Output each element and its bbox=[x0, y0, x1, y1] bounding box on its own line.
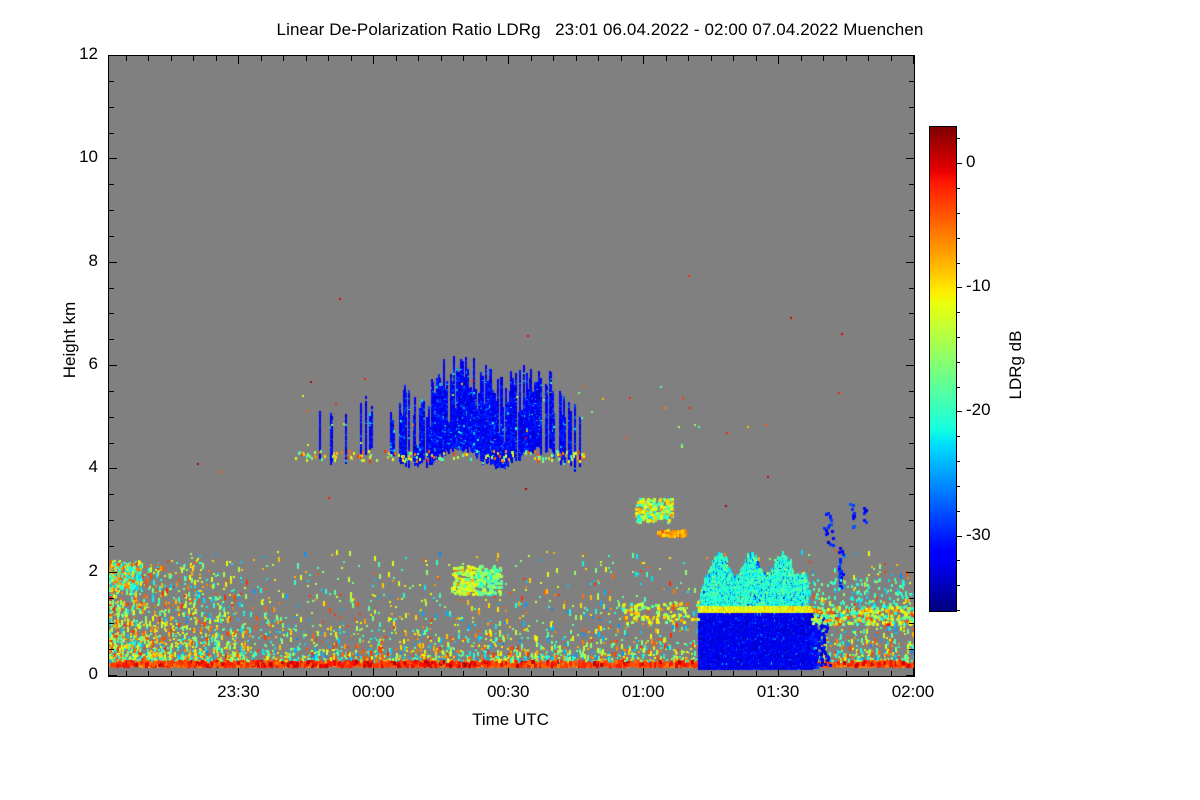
x-tick bbox=[193, 671, 194, 676]
x-tick-top bbox=[711, 56, 712, 61]
y-tick-label: 10 bbox=[40, 147, 98, 167]
x-tick-top bbox=[778, 56, 779, 64]
y-tick bbox=[109, 623, 114, 624]
page-title: Linear De-Polarization Ratio LDRg 23:01 … bbox=[0, 20, 1200, 40]
x-tick-top bbox=[351, 56, 352, 61]
x-tick bbox=[846, 671, 847, 676]
x-tick bbox=[418, 671, 419, 676]
colorbar-tick bbox=[956, 213, 960, 214]
x-tick bbox=[756, 671, 757, 676]
x-tick bbox=[373, 668, 374, 676]
x-tick bbox=[531, 671, 532, 676]
y-tick bbox=[109, 339, 114, 340]
y-tick bbox=[109, 262, 117, 263]
y-tick bbox=[109, 468, 117, 469]
x-tick-top bbox=[891, 56, 892, 61]
colorbar-gradient bbox=[930, 127, 956, 611]
x-tick-top bbox=[913, 56, 914, 64]
y-tick bbox=[109, 158, 117, 159]
x-tick bbox=[441, 671, 442, 676]
x-tick-top bbox=[756, 56, 757, 61]
y-tick-right bbox=[906, 158, 914, 159]
x-tick bbox=[598, 671, 599, 676]
colorbar-tick bbox=[956, 560, 960, 561]
x-tick-top bbox=[531, 56, 532, 61]
x-tick-top bbox=[598, 56, 599, 61]
y-tick-label: 8 bbox=[40, 251, 98, 271]
x-tick-top bbox=[441, 56, 442, 61]
x-tick bbox=[891, 671, 892, 676]
radar-heatmap-canvas bbox=[109, 56, 914, 676]
colorbar-tick bbox=[956, 585, 960, 586]
x-tick bbox=[463, 671, 464, 676]
x-tick bbox=[868, 671, 869, 676]
y-tick-right bbox=[909, 339, 914, 340]
x-tick bbox=[171, 671, 172, 676]
x-tick bbox=[733, 671, 734, 676]
x-tick bbox=[778, 668, 779, 676]
y-tick bbox=[109, 649, 114, 650]
y-tick-right bbox=[909, 598, 914, 599]
x-tick-top bbox=[868, 56, 869, 61]
x-tick-top bbox=[666, 56, 667, 61]
x-tick bbox=[396, 671, 397, 676]
y-tick-right bbox=[909, 236, 914, 237]
colorbar-tick bbox=[956, 263, 960, 264]
y-tick bbox=[109, 598, 114, 599]
x-tick bbox=[666, 671, 667, 676]
x-tick-top bbox=[801, 56, 802, 61]
x-tick-top bbox=[306, 56, 307, 61]
y-tick-label: 12 bbox=[40, 44, 98, 64]
y-tick-label: 6 bbox=[40, 354, 98, 374]
colorbar-tick-label: -10 bbox=[966, 276, 991, 296]
x-tick-label: 02:00 bbox=[853, 682, 973, 702]
y-tick-right bbox=[909, 520, 914, 521]
y-tick bbox=[109, 494, 114, 495]
y-tick-right bbox=[909, 184, 914, 185]
y-tick-right bbox=[906, 365, 914, 366]
colorbar-tick-label: -30 bbox=[966, 525, 991, 545]
y-tick bbox=[109, 288, 114, 289]
colorbar-tick bbox=[956, 362, 960, 363]
x-tick bbox=[148, 671, 149, 676]
x-tick bbox=[711, 671, 712, 676]
y-tick-right bbox=[906, 572, 914, 573]
y-tick bbox=[109, 365, 117, 366]
colorbar-tick bbox=[956, 138, 960, 139]
x-tick bbox=[351, 671, 352, 676]
x-tick bbox=[328, 671, 329, 676]
y-tick-right bbox=[909, 623, 914, 624]
x-tick bbox=[643, 668, 644, 676]
y-tick-right bbox=[909, 313, 914, 314]
x-tick-top bbox=[396, 56, 397, 61]
colorbar-tick bbox=[956, 511, 960, 512]
colorbar-tick bbox=[956, 287, 962, 288]
y-tick-right bbox=[909, 443, 914, 444]
x-tick bbox=[238, 668, 239, 676]
x-tick-top bbox=[553, 56, 554, 61]
y-tick-right bbox=[909, 546, 914, 547]
y-tick-right bbox=[909, 417, 914, 418]
x-tick bbox=[913, 668, 914, 676]
y-tick bbox=[109, 133, 114, 134]
x-tick bbox=[823, 671, 824, 676]
y-tick bbox=[109, 313, 114, 314]
colorbar bbox=[929, 126, 957, 612]
colorbar-tick-label: -20 bbox=[966, 400, 991, 420]
y-tick bbox=[109, 675, 117, 676]
x-tick bbox=[486, 671, 487, 676]
y-tick-label: 2 bbox=[40, 561, 98, 581]
y-tick-right bbox=[909, 133, 914, 134]
x-tick-top bbox=[148, 56, 149, 61]
x-tick-top bbox=[261, 56, 262, 61]
y-tick bbox=[109, 107, 114, 108]
y-tick bbox=[109, 572, 117, 573]
x-tick-top bbox=[126, 56, 127, 61]
x-tick-top bbox=[171, 56, 172, 61]
x-tick-top bbox=[418, 56, 419, 61]
x-tick-label: 00:30 bbox=[448, 682, 568, 702]
colorbar-label: LDRg dB bbox=[1006, 265, 1026, 465]
y-tick bbox=[109, 520, 114, 521]
x-tick bbox=[508, 668, 509, 676]
y-tick bbox=[109, 546, 114, 547]
x-tick-top bbox=[486, 56, 487, 61]
y-tick bbox=[109, 443, 114, 444]
x-tick-label: 00:00 bbox=[313, 682, 433, 702]
colorbar-tick bbox=[956, 461, 960, 462]
y-tick-right bbox=[909, 288, 914, 289]
x-tick bbox=[553, 671, 554, 676]
x-tick-top bbox=[621, 56, 622, 61]
y-tick-right bbox=[909, 81, 914, 82]
x-tick-top bbox=[283, 56, 284, 61]
colorbar-tick-label: 0 bbox=[966, 152, 975, 172]
x-tick-top bbox=[238, 56, 239, 64]
y-tick-right bbox=[909, 107, 914, 108]
x-tick bbox=[621, 671, 622, 676]
y-tick bbox=[109, 236, 114, 237]
y-tick-right bbox=[909, 210, 914, 211]
y-tick-right bbox=[906, 262, 914, 263]
y-tick bbox=[109, 210, 114, 211]
x-tick-top bbox=[216, 56, 217, 61]
x-tick-top bbox=[733, 56, 734, 61]
y-tick bbox=[109, 55, 117, 56]
colorbar-tick bbox=[956, 536, 962, 537]
y-tick bbox=[109, 184, 114, 185]
y-tick bbox=[109, 81, 114, 82]
x-tick-top bbox=[688, 56, 689, 61]
x-tick-top bbox=[823, 56, 824, 61]
y-tick-right bbox=[909, 649, 914, 650]
y-tick-right bbox=[909, 494, 914, 495]
x-tick-label: 01:30 bbox=[718, 682, 838, 702]
y-tick-right bbox=[909, 391, 914, 392]
x-tick bbox=[576, 671, 577, 676]
colorbar-tick bbox=[956, 188, 960, 189]
x-tick bbox=[261, 671, 262, 676]
colorbar-tick bbox=[956, 436, 960, 437]
colorbar-tick bbox=[956, 387, 960, 388]
radar-plot-page: Linear De-Polarization Ratio LDRg 23:01 … bbox=[0, 0, 1200, 800]
x-tick-top bbox=[463, 56, 464, 61]
y-tick-label: 0 bbox=[40, 664, 98, 684]
colorbar-tick bbox=[956, 163, 962, 164]
x-tick-top bbox=[643, 56, 644, 64]
x-tick-top bbox=[193, 56, 194, 61]
x-tick bbox=[688, 671, 689, 676]
colorbar-tick bbox=[956, 411, 962, 412]
x-tick-label: 01:00 bbox=[583, 682, 703, 702]
x-tick-top bbox=[846, 56, 847, 61]
colorbar-tick bbox=[956, 486, 960, 487]
colorbar-tick bbox=[956, 238, 960, 239]
x-tick-top bbox=[373, 56, 374, 64]
x-axis-label: Time UTC bbox=[108, 710, 913, 730]
x-tick bbox=[216, 671, 217, 676]
x-tick bbox=[801, 671, 802, 676]
x-tick bbox=[306, 671, 307, 676]
y-tick bbox=[109, 417, 114, 418]
x-tick-top bbox=[508, 56, 509, 64]
x-tick-top bbox=[328, 56, 329, 61]
colorbar-tick bbox=[956, 610, 960, 611]
x-tick-top bbox=[576, 56, 577, 61]
colorbar-tick bbox=[956, 337, 960, 338]
plot-area bbox=[108, 55, 915, 677]
x-tick bbox=[126, 671, 127, 676]
y-tick-right bbox=[906, 468, 914, 469]
x-tick-label: 23:30 bbox=[178, 682, 298, 702]
x-tick bbox=[283, 671, 284, 676]
colorbar-tick bbox=[956, 312, 960, 313]
y-tick-label: 4 bbox=[40, 457, 98, 477]
y-tick bbox=[109, 391, 114, 392]
